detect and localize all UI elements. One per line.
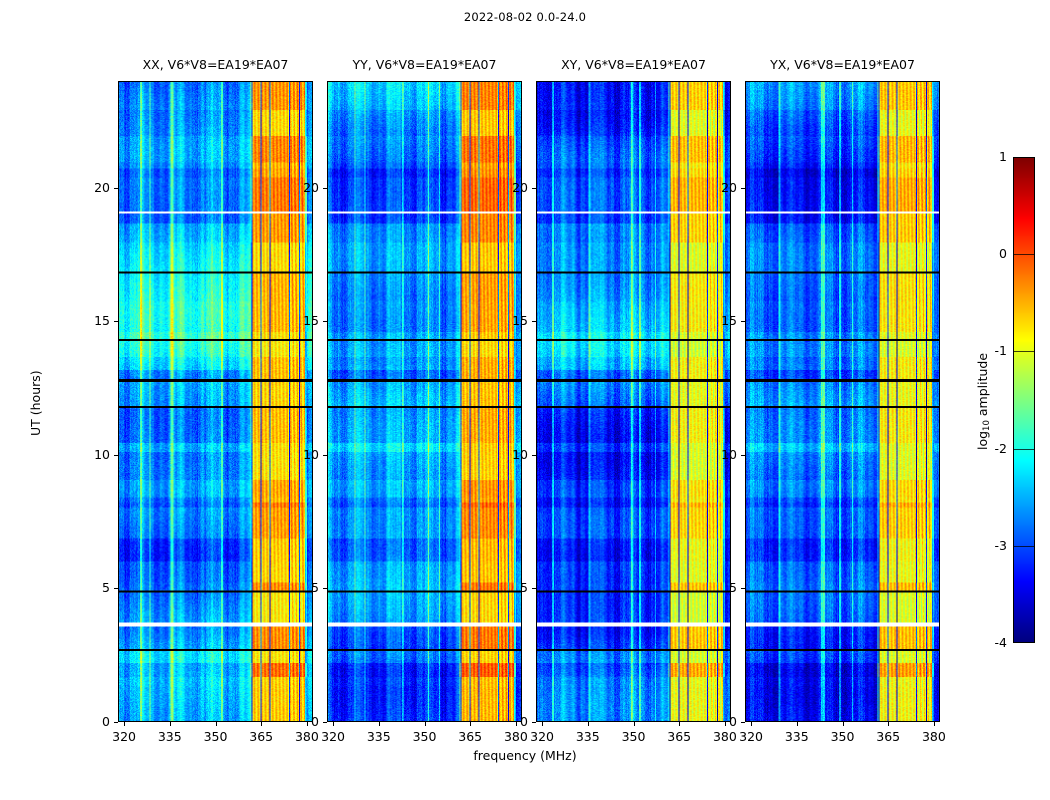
y-tick-label: 15 [492,313,528,328]
x-tickmark [751,722,752,726]
colorbar-tick-label: -3 [973,538,1007,553]
y-tick-label: 15 [701,313,737,328]
x-tick-label: 365 [450,729,490,744]
y-tick-label: 0 [74,714,110,729]
x-tickmark [379,722,380,726]
panel-title-xx: XX, V6*V8=EA19*EA07 [118,57,313,72]
y-tick-label: 5 [74,580,110,595]
x-tick-label: 350 [614,729,654,744]
x-tickmark [542,722,543,726]
x-tickmark [679,722,680,726]
y-tickmark [114,588,118,589]
colorbar-tick-label: 0 [973,246,1007,261]
y-tick-label: 20 [74,180,110,195]
x-tick-label: 365 [868,729,908,744]
waterfall-panel-yy[interactable] [327,81,522,722]
figure-suptitle: 2022-08-02 0.0-24.0 [0,10,1050,24]
y-tickmark [741,455,745,456]
x-tick-label: 320 [731,729,771,744]
waterfall-image-yy [328,82,521,721]
colorbar-tick-label: -4 [973,635,1007,650]
waterfall-image-xx [119,82,312,721]
y-tickmark [532,188,536,189]
y-tick-label: 0 [283,714,319,729]
panel-title-yx: YX, V6*V8=EA19*EA07 [745,57,940,72]
y-tickmark [532,321,536,322]
x-tick-label: 350 [196,729,236,744]
x-tickmark [934,722,935,726]
colorbar-tick-label: 1 [973,149,1007,164]
x-tick-label: 320 [313,729,353,744]
y-tickmark [114,188,118,189]
x-tick-label: 350 [405,729,445,744]
y-tickmark [532,455,536,456]
y-tickmark [323,188,327,189]
y-tickmark [114,321,118,322]
waterfall-panel-xy[interactable] [536,81,731,722]
y-tickmark [741,188,745,189]
y-tick-label: 0 [492,714,528,729]
x-tick-label: 365 [659,729,699,744]
x-tickmark [425,722,426,726]
x-tickmark [470,722,471,726]
figure-canvas: 2022-08-02 0.0-24.0 frequency (MHz) UT (… [0,0,1050,800]
x-tickmark [261,722,262,726]
y-tick-label: 10 [74,447,110,462]
x-tickmark [888,722,889,726]
x-tickmark [216,722,217,726]
panel-title-xy: XY, V6*V8=EA19*EA07 [536,57,731,72]
x-tick-label: 365 [241,729,281,744]
colorbar-tickmark [1014,449,1034,450]
panel-title-yy: YY, V6*V8=EA19*EA07 [327,57,522,72]
waterfall-image-xy [537,82,730,721]
y-tickmark [741,321,745,322]
x-tick-label: 335 [568,729,608,744]
y-tick-label: 10 [283,447,319,462]
y-tick-label: 20 [492,180,528,195]
y-tick-label: 5 [701,580,737,595]
x-tickmark [797,722,798,726]
y-tickmark [323,455,327,456]
x-tick-label: 320 [522,729,562,744]
y-tick-label: 20 [701,180,737,195]
y-tick-label: 10 [701,447,737,462]
y-tickmark [532,588,536,589]
x-tickmark [124,722,125,726]
waterfall-image-yx [746,82,939,721]
x-tick-label: 380 [914,729,954,744]
colorbar [1013,157,1035,643]
y-tickmark [741,722,745,723]
x-tickmark [634,722,635,726]
y-tick-label: 15 [74,313,110,328]
colorbar-tickmark [1014,351,1034,352]
y-tickmark [323,722,327,723]
colorbar-gradient [1014,158,1034,642]
x-axis-label: frequency (MHz) [0,748,1050,763]
x-tick-label: 335 [359,729,399,744]
y-tick-label: 20 [283,180,319,195]
y-tick-label: 5 [283,580,319,595]
x-tickmark [588,722,589,726]
y-tickmark [532,722,536,723]
y-tick-label: 5 [492,580,528,595]
y-tick-label: 10 [492,447,528,462]
x-tickmark [170,722,171,726]
x-tick-label: 350 [823,729,863,744]
y-tickmark [323,588,327,589]
x-tickmark [843,722,844,726]
colorbar-tickmark [1014,546,1034,547]
y-tickmark [114,455,118,456]
colorbar-tickmark [1014,254,1034,255]
y-tickmark [323,321,327,322]
x-tick-label: 335 [777,729,817,744]
waterfall-panel-yx[interactable] [745,81,940,722]
waterfall-panel-xx[interactable] [118,81,313,722]
x-tick-label: 320 [104,729,144,744]
y-tickmark [741,588,745,589]
x-tick-label: 335 [150,729,190,744]
y-tick-label: 15 [283,313,319,328]
y-tick-label: 0 [701,714,737,729]
y-tickmark [114,722,118,723]
colorbar-label: log10 amplitude [975,353,990,450]
x-tickmark [333,722,334,726]
y-axis-label: UT (hours) [28,370,43,436]
